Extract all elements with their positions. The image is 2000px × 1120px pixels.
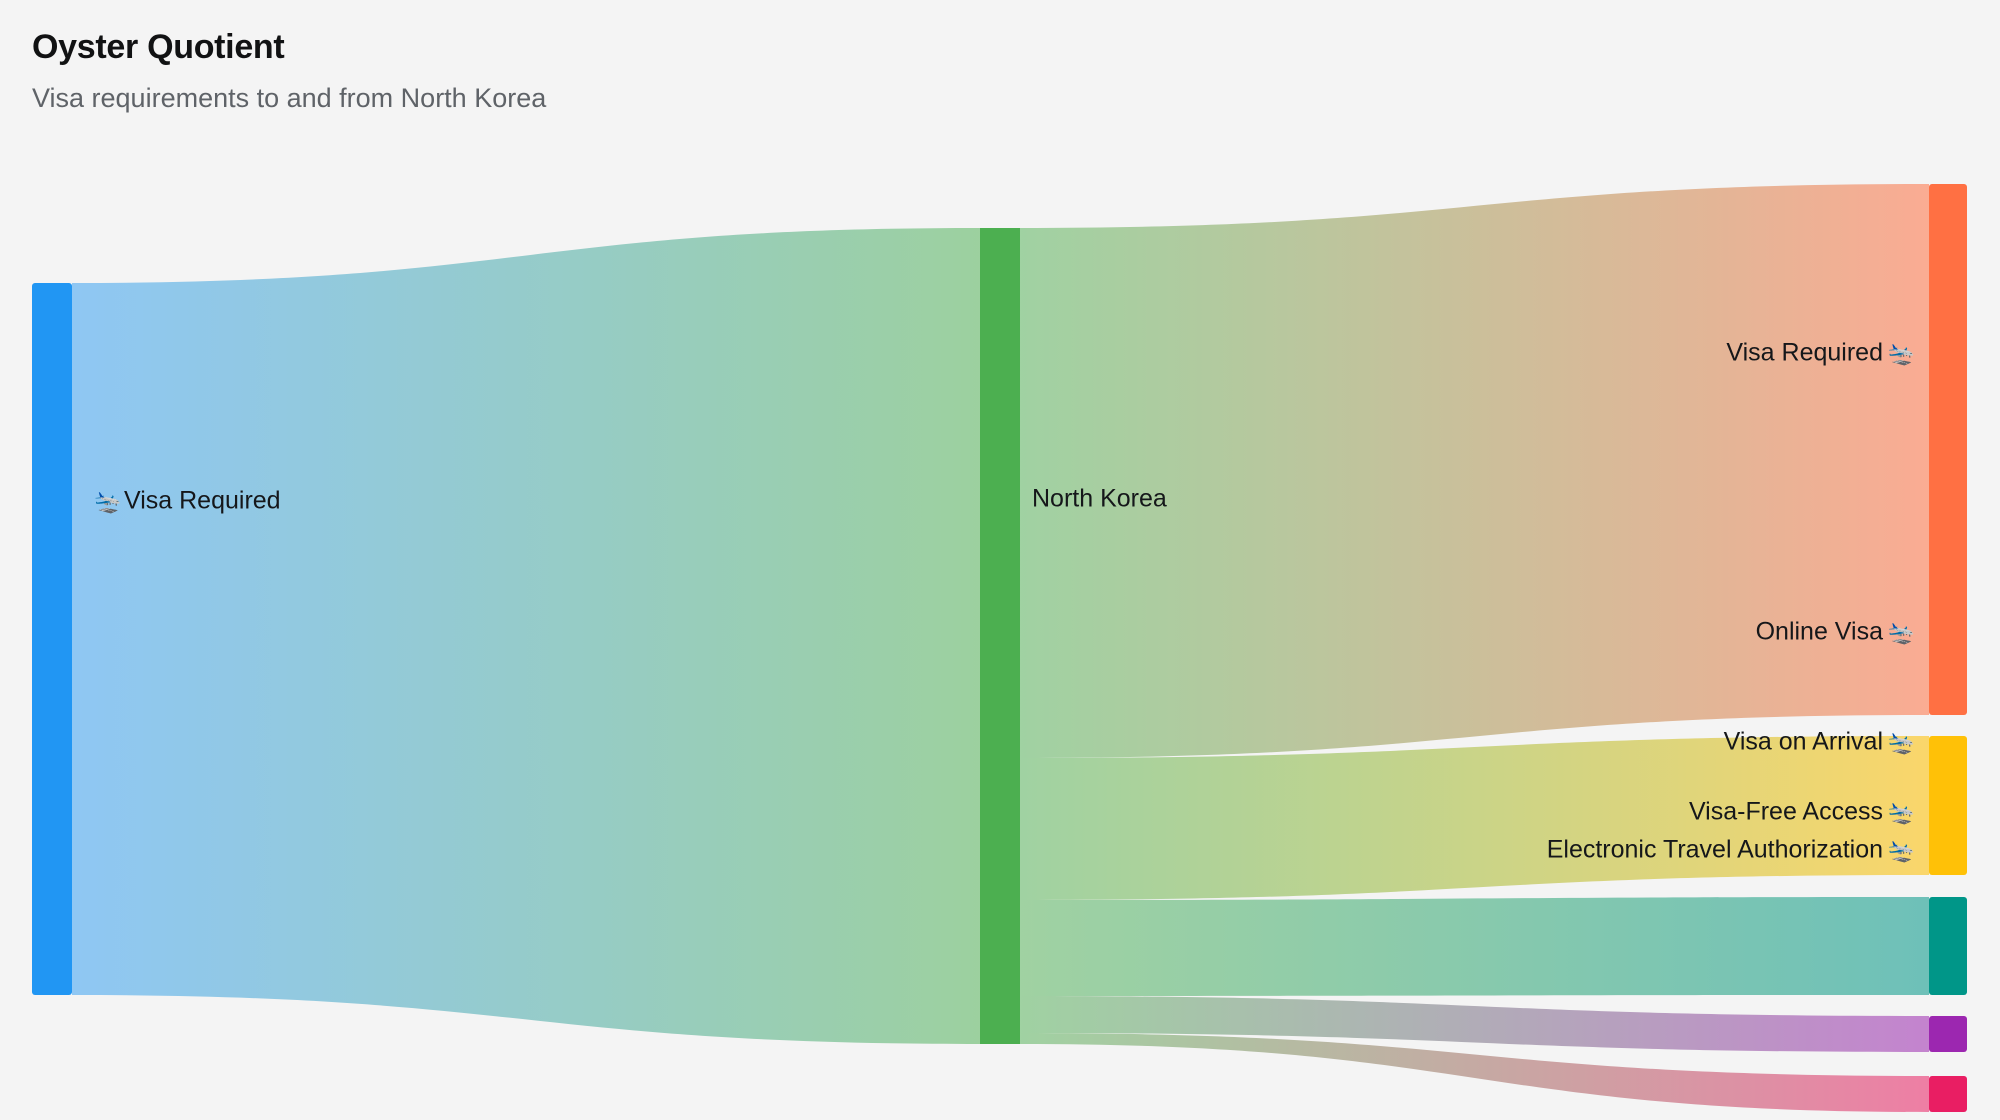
node-label-text: Electronic Travel Authorization	[1547, 836, 1883, 864]
airplane-arriving-icon: 🛬	[1888, 621, 1915, 646]
airplane-arriving-icon: 🛬	[1888, 801, 1915, 826]
airplane-arriving-icon: 🛬	[1888, 342, 1915, 367]
node-label-text: Visa-Free Access	[1689, 798, 1883, 826]
node-label-text: Visa Required	[124, 487, 281, 515]
airplane-arriving-icon: 🛬	[1888, 731, 1915, 756]
airplane-arriving-icon: 🛬	[94, 490, 121, 515]
node-north-korea[interactable]	[980, 228, 1020, 1044]
node-out-online-visa[interactable]	[1929, 736, 1967, 875]
node-label-out-visa-free: 🛬Visa-Free Access	[1689, 798, 1915, 826]
node-out-visa-required[interactable]	[1929, 184, 1967, 715]
link-north-korea-to-out-visa-on-arrival[interactable]	[1020, 897, 1929, 996]
node-label-out-online-visa: 🛬Online Visa	[1756, 618, 1915, 646]
link-north-korea-to-out-visa-required[interactable]	[1020, 184, 1929, 758]
sankey-diagram: 🛬Visa RequiredNorth Korea🛬Visa Required🛬…	[0, 0, 2000, 1120]
node-label-text: Visa on Arrival	[1724, 728, 1883, 756]
node-label-out-eta: 🛬Electronic Travel Authorization	[1547, 836, 1915, 864]
node-out-eta[interactable]	[1929, 1076, 1967, 1112]
airplane-arriving-icon: 🛬	[1888, 839, 1915, 864]
link-visa-required-to-north-korea[interactable]	[72, 228, 980, 1044]
node-in-visa-required[interactable]	[32, 283, 72, 995]
node-label-text: North Korea	[1032, 485, 1167, 513]
node-label-north-korea: North Korea	[1032, 485, 1167, 513]
node-label-text: Visa Required	[1726, 339, 1883, 367]
node-label-out-visa-required: 🛬Visa Required	[1726, 339, 1915, 367]
sankey-svg: 🛬Visa RequiredNorth Korea🛬Visa Required🛬…	[0, 0, 2000, 1120]
node-label-text: Online Visa	[1756, 618, 1883, 646]
node-out-visa-free[interactable]	[1929, 1016, 1967, 1052]
node-out-visa-on-arrival[interactable]	[1929, 897, 1967, 995]
